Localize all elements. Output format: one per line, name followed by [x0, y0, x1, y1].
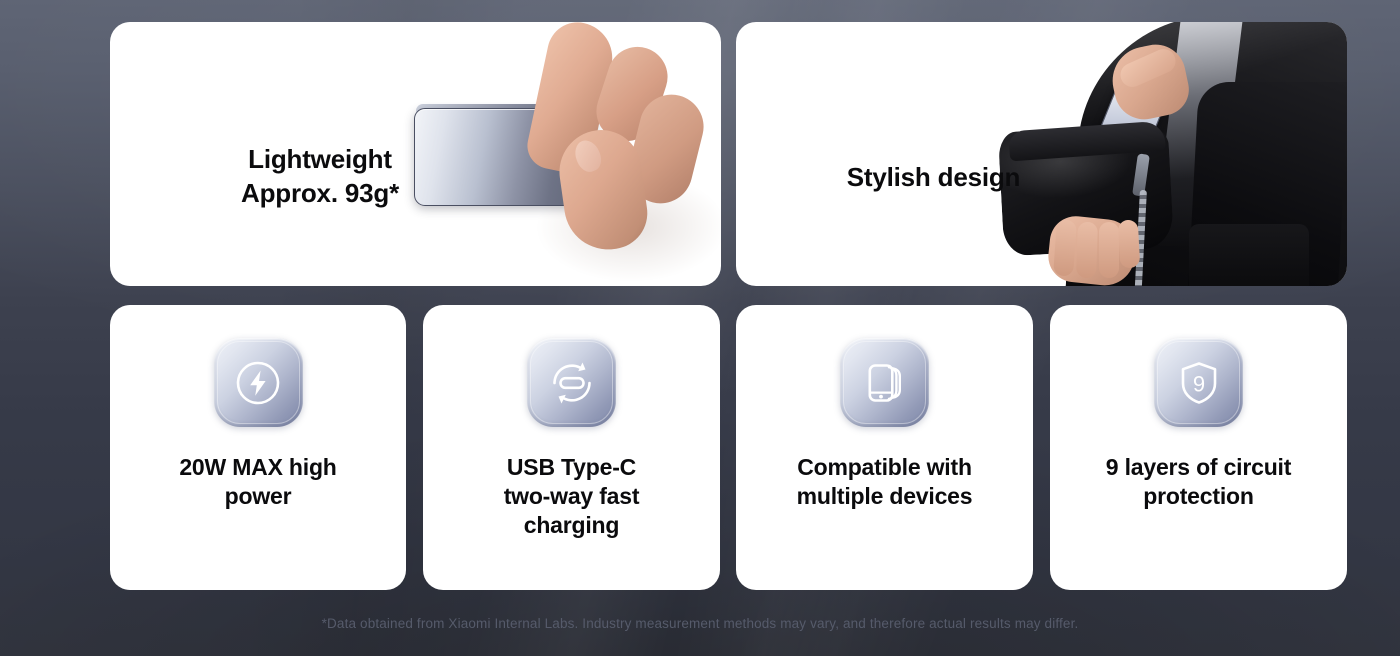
feature-label-line-2: power	[225, 483, 292, 509]
icon-tile-compatible	[840, 338, 929, 427]
multiple-devices-icon	[857, 355, 913, 411]
feature-label-compatible: Compatible withmultiple devices	[759, 453, 1011, 511]
footnote-disclaimer: *Data obtained from Xiaomi Internal Labs…	[0, 616, 1400, 631]
hero-title-line-1: Lightweight	[248, 144, 392, 174]
feature-label-line-1: 9 layers of circuit	[1106, 454, 1291, 480]
feature-label-line-2: multiple devices	[797, 483, 973, 509]
feature-label-line-2: two-way fast	[504, 483, 640, 509]
lower-finger-1	[1053, 219, 1077, 276]
lightning-bolt-icon	[230, 355, 286, 411]
feature-card-compatible[interactable]: Compatible withmultiple devices	[736, 305, 1033, 590]
hero-card-lightweight[interactable]: LightweightApprox. 93g*	[110, 22, 721, 286]
hero-title-line-2: Approx. 93g*	[241, 178, 399, 208]
feature-label-power: 20W MAX highpower	[132, 453, 384, 511]
feature-label-line-1: USB Type-C	[507, 454, 636, 480]
feature-label-protection: 9 layers of circuitprotection	[1073, 453, 1325, 511]
feature-label-line-1: Compatible with	[797, 454, 972, 480]
handbag-photo-illustration	[987, 22, 1347, 286]
lower-finger-4	[1118, 220, 1140, 269]
shield-nine-icon: 9	[1171, 355, 1227, 411]
hero-card-stylish-design[interactable]: Stylish design	[736, 22, 1347, 286]
hero-title-lightweight: LightweightApprox. 93g*	[190, 142, 450, 211]
feature-label-line-3: charging	[524, 512, 620, 538]
feature-grid: LightweightApprox. 93g* Stylish design	[0, 0, 1400, 656]
feature-card-usbc[interactable]: USB Type-Ctwo-way fastcharging	[423, 305, 720, 590]
feature-label-line-1: 20W MAX high	[179, 454, 336, 480]
icon-tile-power	[214, 338, 303, 427]
feature-label-line-2: protection	[1143, 483, 1253, 509]
icon-tile-protection: 9	[1154, 338, 1243, 427]
lower-finger-3	[1099, 222, 1119, 278]
feature-card-power[interactable]: 20W MAX highpower	[110, 305, 406, 590]
lower-finger-2	[1076, 222, 1098, 279]
svg-text:9: 9	[1192, 371, 1204, 396]
usb-type-c-two-way-icon	[544, 355, 600, 411]
feature-label-usbc: USB Type-Ctwo-way fastcharging	[446, 453, 698, 539]
icon-tile-usbc	[527, 338, 616, 427]
trousers	[1189, 224, 1309, 286]
hero-title-stylish-design: Stylish design	[776, 160, 1091, 194]
feature-card-protection[interactable]: 9 9 layers of circuitprotection	[1050, 305, 1347, 590]
